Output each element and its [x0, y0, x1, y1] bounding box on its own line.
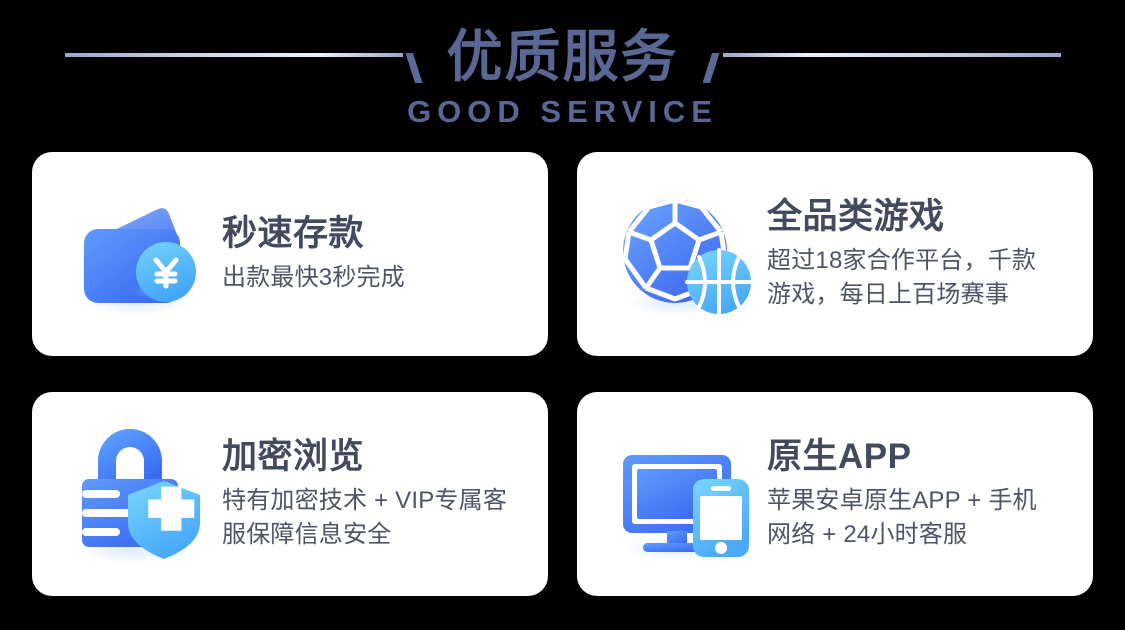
- card-description-line: 特有加密技术 + VIP专属客: [222, 484, 507, 517]
- left-rule-line: [65, 53, 403, 57]
- card-description-line: 服保障信息安全: [222, 518, 507, 551]
- right-rule-slash-icon: [703, 53, 720, 83]
- feature-card-encryption[interactable]: 加密浏览 特有加密技术 + VIP专属客 服保障信息安全: [32, 392, 548, 596]
- left-rule-slash-icon: [406, 53, 423, 83]
- page-title: 优质服务: [433, 29, 693, 85]
- feature-card-deposit[interactable]: 秒速存款 出款最快3秒完成: [32, 152, 548, 356]
- soccer-basketball-icon: [611, 179, 761, 329]
- feature-card-text: 秒速存款 出款最快3秒完成: [222, 214, 419, 294]
- left-rule-decoration: [53, 27, 433, 87]
- card-description: 超过18家合作平台，千款 游戏，每日上百场赛事: [767, 244, 1036, 310]
- right-rule-line: [723, 53, 1061, 57]
- card-description: 特有加密技术 + VIP专属客 服保障信息安全: [222, 484, 507, 550]
- card-description-line: 超过18家合作平台，千款: [767, 244, 1036, 277]
- card-description-line: 网络 + 24小时客服: [767, 518, 1037, 551]
- page-subtitle: GOOD SERVICE: [0, 96, 1125, 127]
- card-description-line: 出款最快3秒完成: [222, 261, 405, 294]
- feature-card-games[interactable]: 全品类游戏 超过18家合作平台，千款 游戏，每日上百场赛事: [577, 152, 1093, 356]
- service-feature-banner: 优质服务 GOOD SERVICE: [0, 0, 1125, 630]
- card-description: 苹果安卓原生APP + 手机 网络 + 24小时客服: [767, 484, 1037, 550]
- card-description-line: 游戏，每日上百场赛事: [767, 278, 1036, 311]
- right-rule-decoration: [693, 27, 1073, 87]
- card-title: 原生APP: [767, 437, 1037, 476]
- feature-card-grid: 秒速存款 出款最快3秒完成: [32, 152, 1093, 602]
- card-title: 加密浏览: [222, 437, 507, 476]
- card-title: 全品类游戏: [767, 197, 1036, 236]
- feature-card-text: 原生APP 苹果安卓原生APP + 手机 网络 + 24小时客服: [767, 437, 1051, 550]
- feature-card-native-app[interactable]: 原生APP 苹果安卓原生APP + 手机 网络 + 24小时客服: [577, 392, 1093, 596]
- lock-shield-icon: [66, 419, 216, 569]
- card-description-line: 苹果安卓原生APP + 手机: [767, 484, 1037, 517]
- card-title: 秒速存款: [222, 214, 405, 253]
- card-description: 出款最快3秒完成: [222, 261, 405, 294]
- header-title-row: 优质服务: [0, 18, 1125, 96]
- wallet-yen-icon: [66, 179, 216, 329]
- banner-header: 优质服务 GOOD SERVICE: [0, 0, 1125, 150]
- feature-card-text: 加密浏览 特有加密技术 + VIP专属客 服保障信息安全: [222, 437, 521, 550]
- feature-card-text: 全品类游戏 超过18家合作平台，千款 游戏，每日上百场赛事: [767, 197, 1050, 310]
- monitor-phone-icon: [611, 419, 761, 569]
